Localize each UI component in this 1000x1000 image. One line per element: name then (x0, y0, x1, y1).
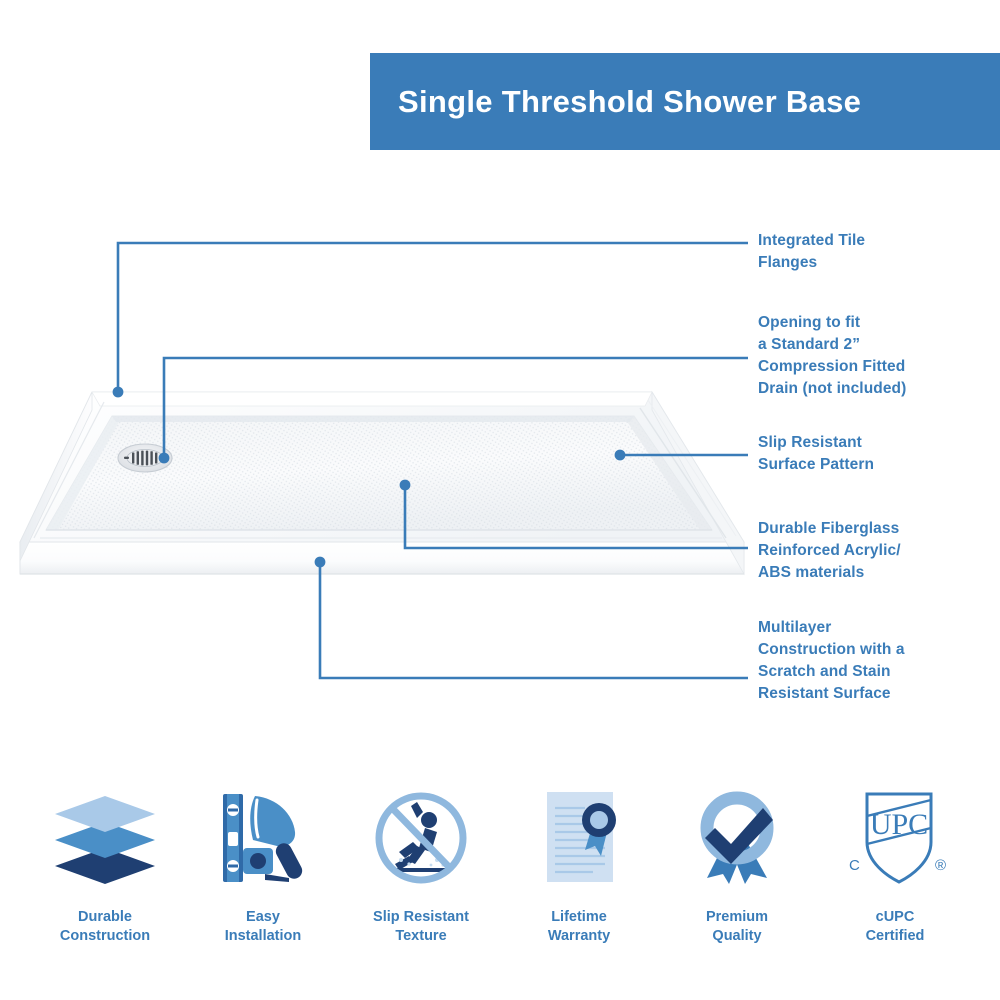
feature-strip: Durable Construction (0, 778, 1000, 968)
callout-line: Reinforced Acrylic/ (758, 540, 998, 562)
no-slip-warning-icon (361, 778, 481, 898)
callout-line: Slip Resistant (758, 432, 998, 454)
callout-line: Construction with a (758, 639, 998, 661)
infographic-page: Single Threshold Shower Base (0, 0, 1000, 1000)
feature-label: Durable Construction (60, 908, 150, 946)
feature-label-line: Quality (706, 927, 768, 946)
feature-label-line: Durable (60, 908, 150, 927)
header-banner: Single Threshold Shower Base (370, 53, 1000, 150)
callout-line: Integrated Tile (758, 230, 998, 252)
shower-base-drawing (0, 330, 760, 630)
drain-icon (118, 444, 172, 472)
feature-label-line: Easy (225, 908, 302, 927)
callout-line: a Standard 2” (758, 334, 998, 356)
feature-label-line: Construction (60, 927, 150, 946)
callout-drain-opening: Opening to fit a Standard 2” Compression… (758, 312, 998, 400)
feature-label-line: Warranty (548, 927, 610, 946)
certificate-award-icon (519, 778, 639, 898)
feature-lifetime-warranty: Lifetime Warranty (500, 778, 658, 946)
feature-slip-resistant-texture: Slip Resistant Texture (342, 778, 500, 946)
product-illustration (0, 330, 760, 630)
feature-label: Easy Installation (225, 908, 302, 946)
callout-line: Durable Fiberglass (758, 518, 998, 540)
feature-label: Slip Resistant Texture (373, 908, 469, 946)
upc-shield-text: UPC (870, 808, 928, 841)
feature-easy-installation: Easy Installation (184, 778, 342, 946)
upc-prefix-c: C (849, 857, 860, 874)
callout-integrated-tile-flanges: Integrated Tile Flanges (758, 230, 998, 274)
upc-shield-icon: UPC C ® (835, 778, 955, 898)
feature-premium-quality: Premium Quality (658, 778, 816, 946)
feature-label-line: Premium (706, 908, 768, 927)
registered-mark: ® (935, 857, 946, 874)
callout-line: Flanges (758, 252, 998, 274)
checkmark-rosette-icon (677, 778, 797, 898)
callout-durable-materials: Durable Fiberglass Reinforced Acrylic/ A… (758, 518, 998, 584)
callout-line: Opening to fit (758, 312, 998, 334)
feature-label-line: Texture (373, 927, 469, 946)
feature-label-line: cUPC (866, 908, 925, 927)
page-title: Single Threshold Shower Base (398, 84, 861, 120)
feature-label-line: Slip Resistant (373, 908, 469, 927)
callout-line: Multilayer (758, 617, 998, 639)
level-trowel-tape-measure-icon (203, 778, 323, 898)
feature-cupc-certified: UPC C ® cUPC Certified (816, 778, 974, 946)
layered-diamonds-icon (45, 778, 165, 898)
feature-label-line: Lifetime (548, 908, 610, 927)
feature-label-line: Installation (225, 927, 302, 946)
feature-label: Premium Quality (706, 908, 768, 946)
callout-slip-resistant-surface-pattern: Slip Resistant Surface Pattern (758, 432, 998, 476)
callout-line: Surface Pattern (758, 454, 998, 476)
callout-multilayer-construction: Multilayer Construction with a Scratch a… (758, 617, 998, 705)
feature-label: cUPC Certified (866, 908, 925, 946)
callout-line: Resistant Surface (758, 683, 998, 705)
callout-line: Scratch and Stain (758, 661, 998, 683)
feature-durable-construction: Durable Construction (26, 778, 184, 946)
callout-line: Compression Fitted (758, 356, 998, 378)
callout-line: ABS materials (758, 562, 998, 584)
callout-line: Drain (not included) (758, 378, 998, 400)
feature-label: Lifetime Warranty (548, 908, 610, 946)
feature-label-line: Certified (866, 927, 925, 946)
